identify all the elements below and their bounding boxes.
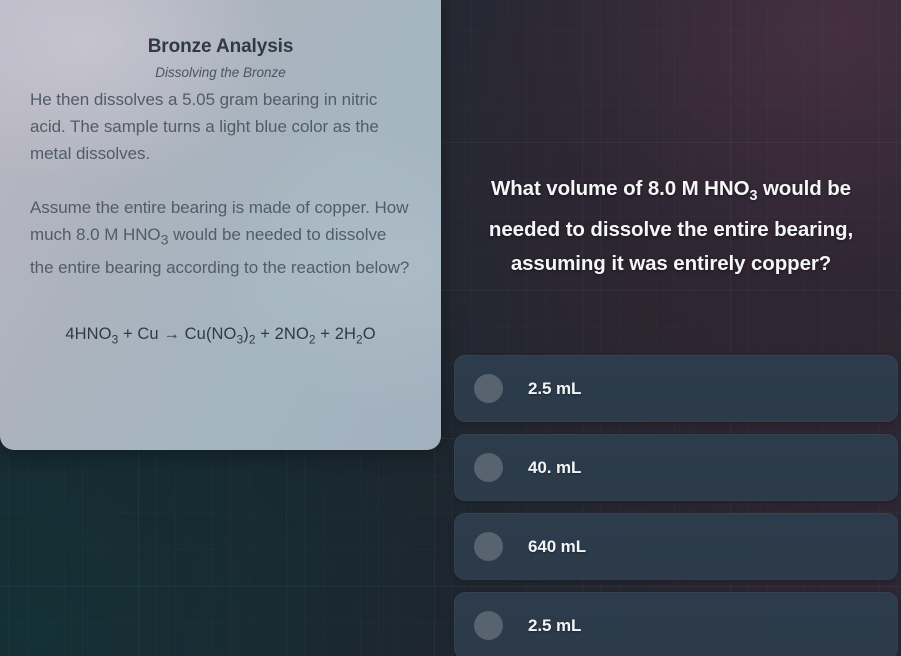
answer-option[interactable]: 2.5 mL xyxy=(454,592,898,656)
question-panel: What volume of 8.0 M HNO3 would be neede… xyxy=(441,0,901,656)
answer-option[interactable]: 2.5 mL xyxy=(454,355,898,422)
question-prompt-text-a: What volume of 8.0 M HNO xyxy=(491,177,749,200)
equation-product-2-subscript: 2 xyxy=(309,333,316,347)
scenario-card-content: Bronze Analysis Dissolving the Bronze He… xyxy=(30,36,411,347)
radio-button-icon[interactable] xyxy=(474,453,503,482)
scenario-card: Bronze Analysis Dissolving the Bronze He… xyxy=(0,0,441,450)
question-prompt: What volume of 8.0 M HNO3 would be neede… xyxy=(455,172,887,281)
equation-plus-1: + xyxy=(118,325,137,343)
radio-button-icon[interactable] xyxy=(474,611,503,640)
scenario-paragraph-2: Assume the entire bearing is made of cop… xyxy=(30,194,411,281)
answer-option[interactable]: 40. mL xyxy=(454,434,898,501)
equation-product-3-end: O xyxy=(363,325,376,343)
equation-product-1a: Cu(NO xyxy=(185,325,237,343)
equation-plus-3: + xyxy=(316,325,335,343)
scenario-title: Bronze Analysis xyxy=(30,36,411,58)
equation-product-3: 2H xyxy=(335,325,356,343)
equation-product-1-subscript-b: 2 xyxy=(249,333,256,347)
question-screen: Bronze Analysis Dissolving the Bronze He… xyxy=(0,0,901,656)
equation-arrow-icon: → xyxy=(159,325,185,343)
equation-plus-2: + xyxy=(256,325,275,343)
chemical-equation: 4HNO3 + Cu → Cu(NO3)2 + 2NO2 + 2H2O xyxy=(30,325,411,346)
equation-product-3-subscript: 2 xyxy=(356,333,363,347)
equation-product-2: 2NO xyxy=(275,325,309,343)
answer-option[interactable]: 640 mL xyxy=(454,513,898,580)
answer-options-list: 2.5 mL 40. mL 640 mL 2.5 mL xyxy=(454,355,898,656)
scenario-subtitle: Dissolving the Bronze xyxy=(30,65,411,80)
radio-button-icon[interactable] xyxy=(474,374,503,403)
equation-reactant-2: Cu xyxy=(137,325,158,343)
answer-option-label: 2.5 mL xyxy=(528,379,581,399)
answer-option-label: 640 mL xyxy=(528,537,586,557)
answer-option-label: 2.5 mL xyxy=(528,616,581,636)
equation-reactant-1: 4HNO xyxy=(65,325,111,343)
radio-button-icon[interactable] xyxy=(474,532,503,561)
scenario-paragraph-1: He then dissolves a 5.05 gram bearing in… xyxy=(30,86,411,167)
answer-option-label: 40. mL xyxy=(528,458,581,478)
